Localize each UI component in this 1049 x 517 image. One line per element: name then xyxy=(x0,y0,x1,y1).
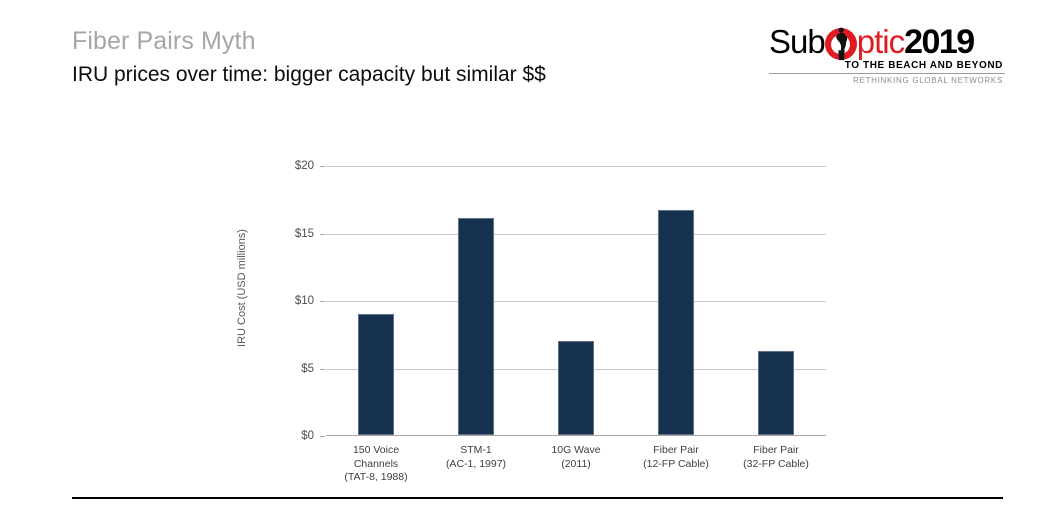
logo-text-year: 2019 xyxy=(904,22,974,62)
gridline xyxy=(326,234,826,235)
logo-text-ptic: ptic xyxy=(857,22,904,62)
footer-divider xyxy=(72,497,1003,499)
bar xyxy=(458,218,494,435)
bar-chart: IRU Cost (USD millions) $0$5$10$15$20150… xyxy=(222,150,842,490)
gridline xyxy=(326,166,826,167)
y-axis-tick-label: $5 xyxy=(268,363,314,375)
y-axis-tick-label: $10 xyxy=(268,295,314,307)
x-axis-category-line: Fiber Pair xyxy=(716,444,836,458)
chart-plot-area: $0$5$10$15$20150 VoiceChannels(TAT-8, 19… xyxy=(326,166,826,436)
y-axis-tick-label: $20 xyxy=(268,160,314,172)
bar xyxy=(658,210,694,435)
y-axis-tick xyxy=(320,301,325,302)
bar xyxy=(758,351,794,435)
y-axis-tick-label: $15 xyxy=(268,228,314,240)
logo-tagline-secondary: RETHINKING GLOBAL NETWORKS xyxy=(769,76,1005,85)
slide-canvas: Fiber Pairs Myth IRU prices over time: b… xyxy=(0,0,1049,517)
y-axis-tick xyxy=(320,369,325,370)
y-axis-tick-label: $0 xyxy=(268,430,314,442)
logo-text-sub: Sub xyxy=(769,22,825,62)
saxophone-player-icon xyxy=(825,28,857,60)
page-title: Fiber Pairs Myth xyxy=(72,26,712,56)
x-axis-line xyxy=(326,435,826,436)
x-axis-category-label: Fiber Pair(32-FP Cable) xyxy=(716,444,836,471)
gridline xyxy=(326,301,826,302)
page-subtitle: IRU prices over time: bigger capacity bu… xyxy=(72,62,712,88)
slide-header: Fiber Pairs Myth IRU prices over time: b… xyxy=(72,26,712,88)
saxophonist-silhouette-icon xyxy=(830,26,852,62)
x-axis-category-line: (32-FP Cable) xyxy=(716,458,836,472)
x-axis-category-line: (TAT-8, 1988) xyxy=(316,471,436,485)
y-axis-title: IRU Cost (USD millions) xyxy=(236,188,248,388)
y-axis-tick xyxy=(320,234,325,235)
logo-divider xyxy=(769,73,1005,74)
y-axis-tick xyxy=(320,436,325,437)
bar xyxy=(558,341,594,436)
bar xyxy=(358,314,394,435)
logo-wordmark: Sub ptic 2019 xyxy=(769,22,1005,62)
y-axis-tick xyxy=(320,166,325,167)
suboptic-logo: Sub ptic 2019 TO THE BEACH AND BEYOND RE… xyxy=(769,22,1005,88)
